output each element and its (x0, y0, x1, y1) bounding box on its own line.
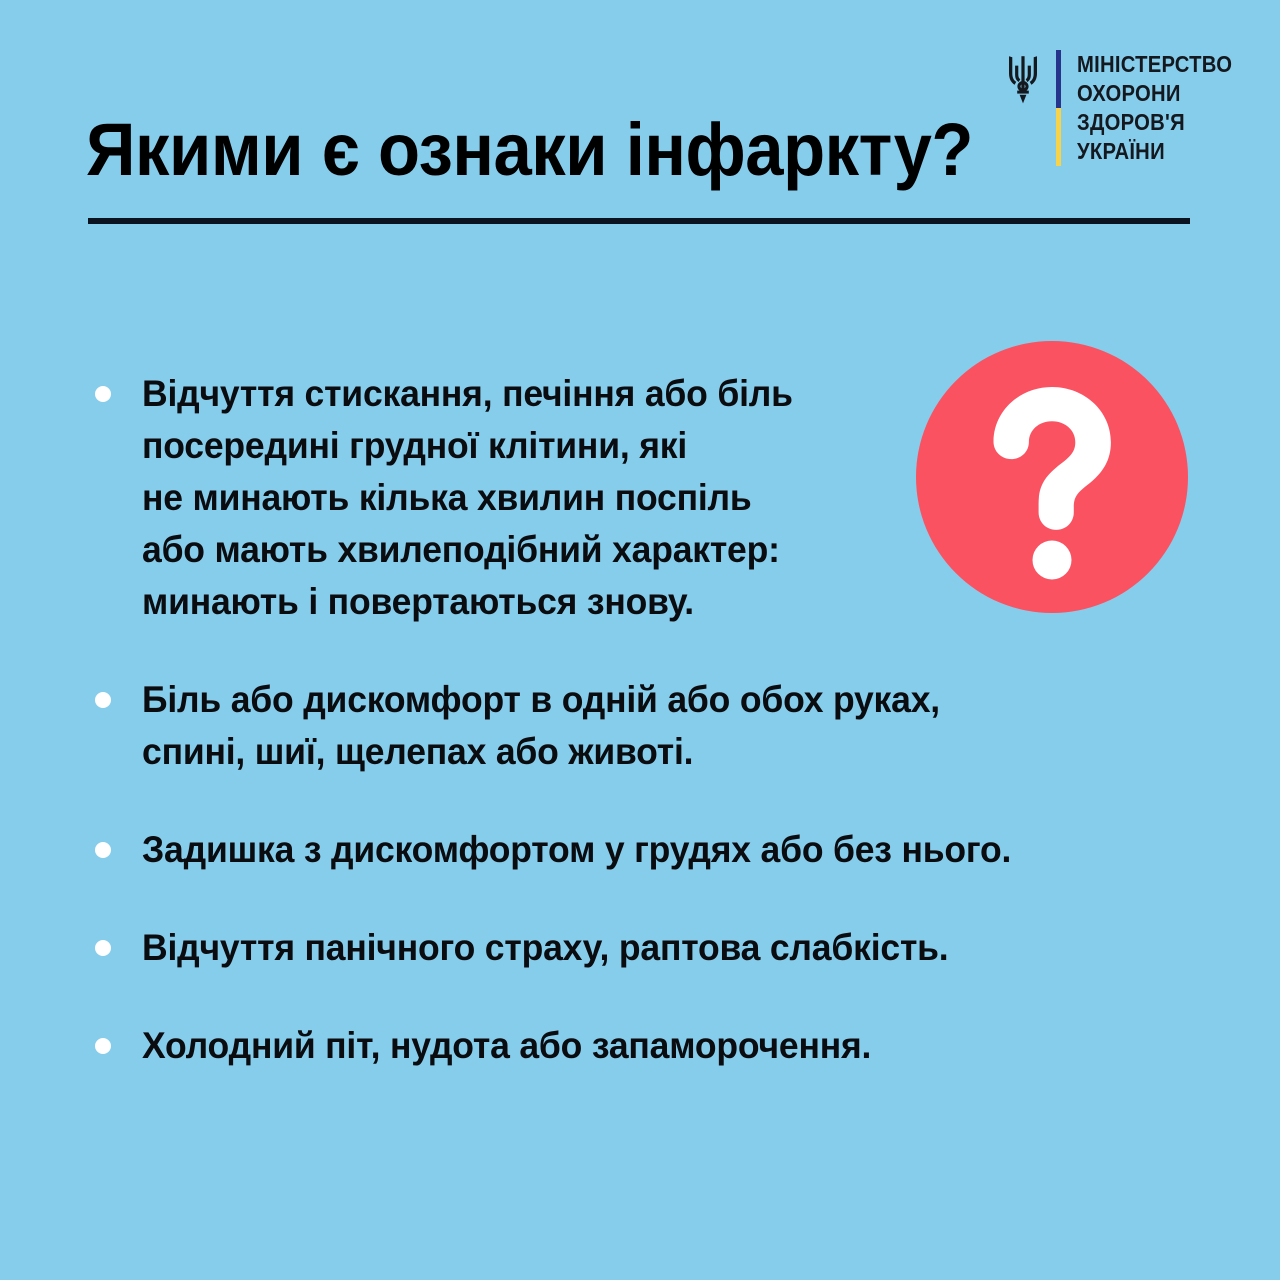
bullet-point-icon (95, 940, 111, 956)
list-item: Відчуття панічного страху, раптова слабк… (88, 922, 1188, 974)
title-divider-rule (88, 218, 1190, 224)
logo-wordmark: МІНІСТЕРСТВО ОХОРОНИ ЗДОРОВ'Я УКРАЇНИ (1077, 50, 1253, 166)
symptom-text: Біль або дискомфорт в одній або обох рук… (142, 674, 1146, 778)
bullet-point-icon (95, 692, 111, 708)
bullet-point-icon (95, 842, 111, 858)
page-title: Якими є ознаки інфаркту? (86, 108, 973, 192)
list-item: Біль або дискомфорт в одній або обох рук… (88, 674, 1188, 778)
logo-line-2: ОХОРОНИ (1077, 79, 1232, 108)
list-item: Холодний піт, нудота або запаморочення. (88, 1020, 1188, 1072)
infographic-poster: Якими є ознаки інфаркту? (0, 0, 1280, 1280)
bullet-point-icon (95, 1038, 111, 1054)
list-item: Задишка з дискомфортом у грудях або без … (88, 824, 1188, 876)
ministry-logo: МІНІСТЕРСТВО ОХОРОНИ ЗДОРОВ'Я УКРАЇНИ (1003, 50, 1208, 172)
logo-flag-divider (1056, 50, 1061, 166)
ukrainian-tryzub-icon (1003, 54, 1043, 106)
symptom-text: Холодний піт, нудота або запаморочення. (142, 1020, 1146, 1072)
logo-line-4: УКРАЇНИ (1077, 137, 1232, 166)
list-item: Відчуття стискання, печіння або біль пос… (88, 368, 1188, 628)
logo-line-3: ЗДОРОВ'Я (1077, 108, 1232, 137)
symptom-text: Відчуття стискання, печіння або біль пос… (142, 368, 1146, 628)
symptom-text: Задишка з дискомфортом у грудях або без … (142, 824, 1146, 876)
logo-line-1: МІНІСТЕРСТВО (1077, 50, 1232, 79)
symptom-list: Відчуття стискання, печіння або біль пос… (88, 368, 1188, 1072)
poster-header: Якими є ознаки інфаркту? (0, 0, 1280, 240)
symptom-text: Відчуття панічного страху, раптова слабк… (142, 922, 1146, 974)
bullet-point-icon (95, 386, 111, 402)
